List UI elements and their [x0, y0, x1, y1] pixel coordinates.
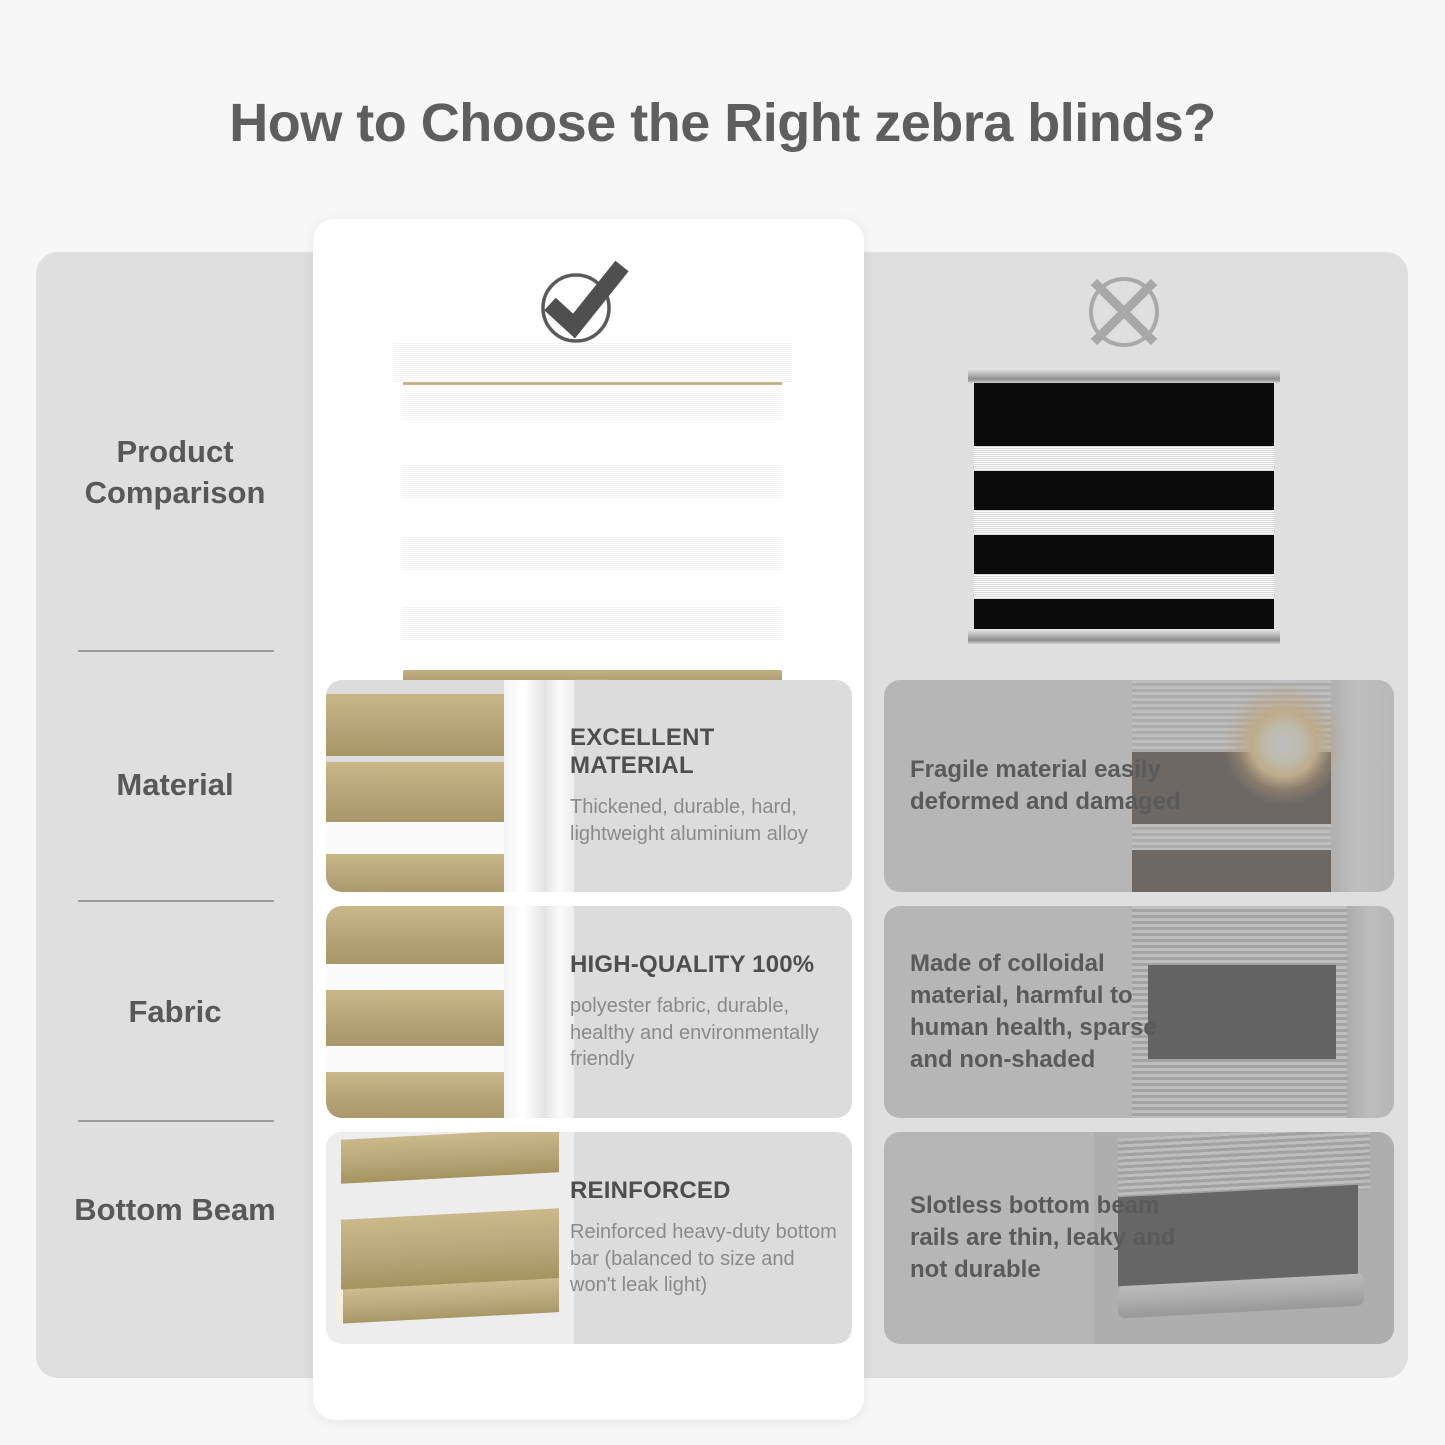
- blind-sheer-stripe: [326, 822, 516, 854]
- black-zebra-blind-image: [968, 368, 1280, 644]
- feature-text-block: REINFORCED Reinforced heavy-duty bottom …: [570, 1132, 838, 1344]
- blind-slat: [341, 1132, 559, 1184]
- row-label-fabric: Fabric: [36, 992, 314, 1033]
- blind-slat: [326, 694, 516, 756]
- good-feature-card-bottom-beam: REINFORCED Reinforced heavy-duty bottom …: [326, 1132, 852, 1344]
- cross-circle-icon: [1080, 266, 1168, 354]
- feature-body: Reinforced heavy-duty bottom bar (balanc…: [570, 1219, 838, 1299]
- bottom-beam-scene: [326, 1132, 574, 1344]
- bad-feature-text: Fragile material easily deformed and dam…: [910, 680, 1200, 892]
- feature-heading: HIGH-QUALITY 100%: [570, 951, 838, 979]
- row-divider: [78, 1120, 274, 1122]
- blind-sheer-stripe: [974, 446, 1274, 471]
- blind-headrail: [393, 342, 792, 382]
- beige-fabric-closeup-photo: [326, 906, 574, 1118]
- infographic-page: How to Choose the Right zebra blinds? Pr…: [0, 0, 1445, 1445]
- feature-body: Thickened, durable, hard, lightweight al…: [570, 794, 838, 848]
- row-label-material: Material: [36, 765, 314, 806]
- blind-slat: [326, 854, 516, 892]
- feature-heading: EXCELLENT MATERIAL: [570, 724, 838, 780]
- feature-text-block: HIGH-QUALITY 100% polyester fabric, dura…: [570, 906, 838, 1118]
- row-label-bottom-beam: Bottom Beam: [36, 1190, 314, 1231]
- check-circle-icon: [534, 256, 630, 348]
- blind-sheer-stripe: [326, 964, 516, 990]
- blind-slat: [326, 990, 516, 1046]
- reinforced-bottom-bar-photo: [326, 1132, 574, 1344]
- bad-feature-text: Slotless bottom beam rails are thin, lea…: [910, 1132, 1200, 1344]
- blind-slat: [403, 382, 782, 420]
- row-divider: [78, 900, 274, 902]
- row-label-product-comparison: Product Comparison: [36, 432, 314, 514]
- blind-slat: [326, 762, 516, 822]
- bad-feature-text: Made of colloidal material, harmful to h…: [910, 906, 1200, 1118]
- beige-zebra-blind-image: [393, 342, 792, 664]
- page-title: How to Choose the Right zebra blinds?: [0, 92, 1445, 154]
- bad-feature-card-fabric: Made of colloidal material, harmful to h…: [884, 906, 1394, 1118]
- blind-slat: [403, 536, 782, 570]
- blind-slat: [341, 1208, 559, 1289]
- row-label-column: Product Comparison Material Fabric Botto…: [36, 252, 314, 1378]
- blind-fabric: [974, 383, 1274, 629]
- good-feature-card-fabric: HIGH-QUALITY 100% polyester fabric, dura…: [326, 906, 852, 1118]
- window-frame: [504, 680, 574, 892]
- blind-sheer-stripe: [326, 1046, 516, 1072]
- blind-slat: [326, 906, 516, 964]
- feature-heading: REINFORCED: [570, 1177, 838, 1205]
- blind-sheer-stripe: [974, 510, 1274, 535]
- bad-feature-card-material: Fragile material easily deformed and dam…: [884, 680, 1394, 892]
- blind-bottom-bar: [968, 629, 1280, 644]
- blind-sheer-stripe: [974, 574, 1274, 599]
- blind-slat: [403, 606, 782, 640]
- feature-body: polyester fabric, durable, healthy and e…: [570, 993, 838, 1073]
- row-divider: [78, 650, 274, 652]
- beige-blind-closeup-photo: [326, 680, 574, 892]
- blind-slat: [326, 1072, 516, 1118]
- good-feature-card-material: EXCELLENT MATERIAL Thickened, durable, h…: [326, 680, 852, 892]
- blind-headrail: [968, 368, 1280, 383]
- window-frame: [504, 906, 574, 1118]
- bad-feature-card-bottom-beam: Slotless bottom beam rails are thin, lea…: [884, 1132, 1394, 1344]
- feature-text-block: EXCELLENT MATERIAL Thickened, durable, h…: [570, 680, 838, 892]
- blind-slat: [403, 464, 782, 498]
